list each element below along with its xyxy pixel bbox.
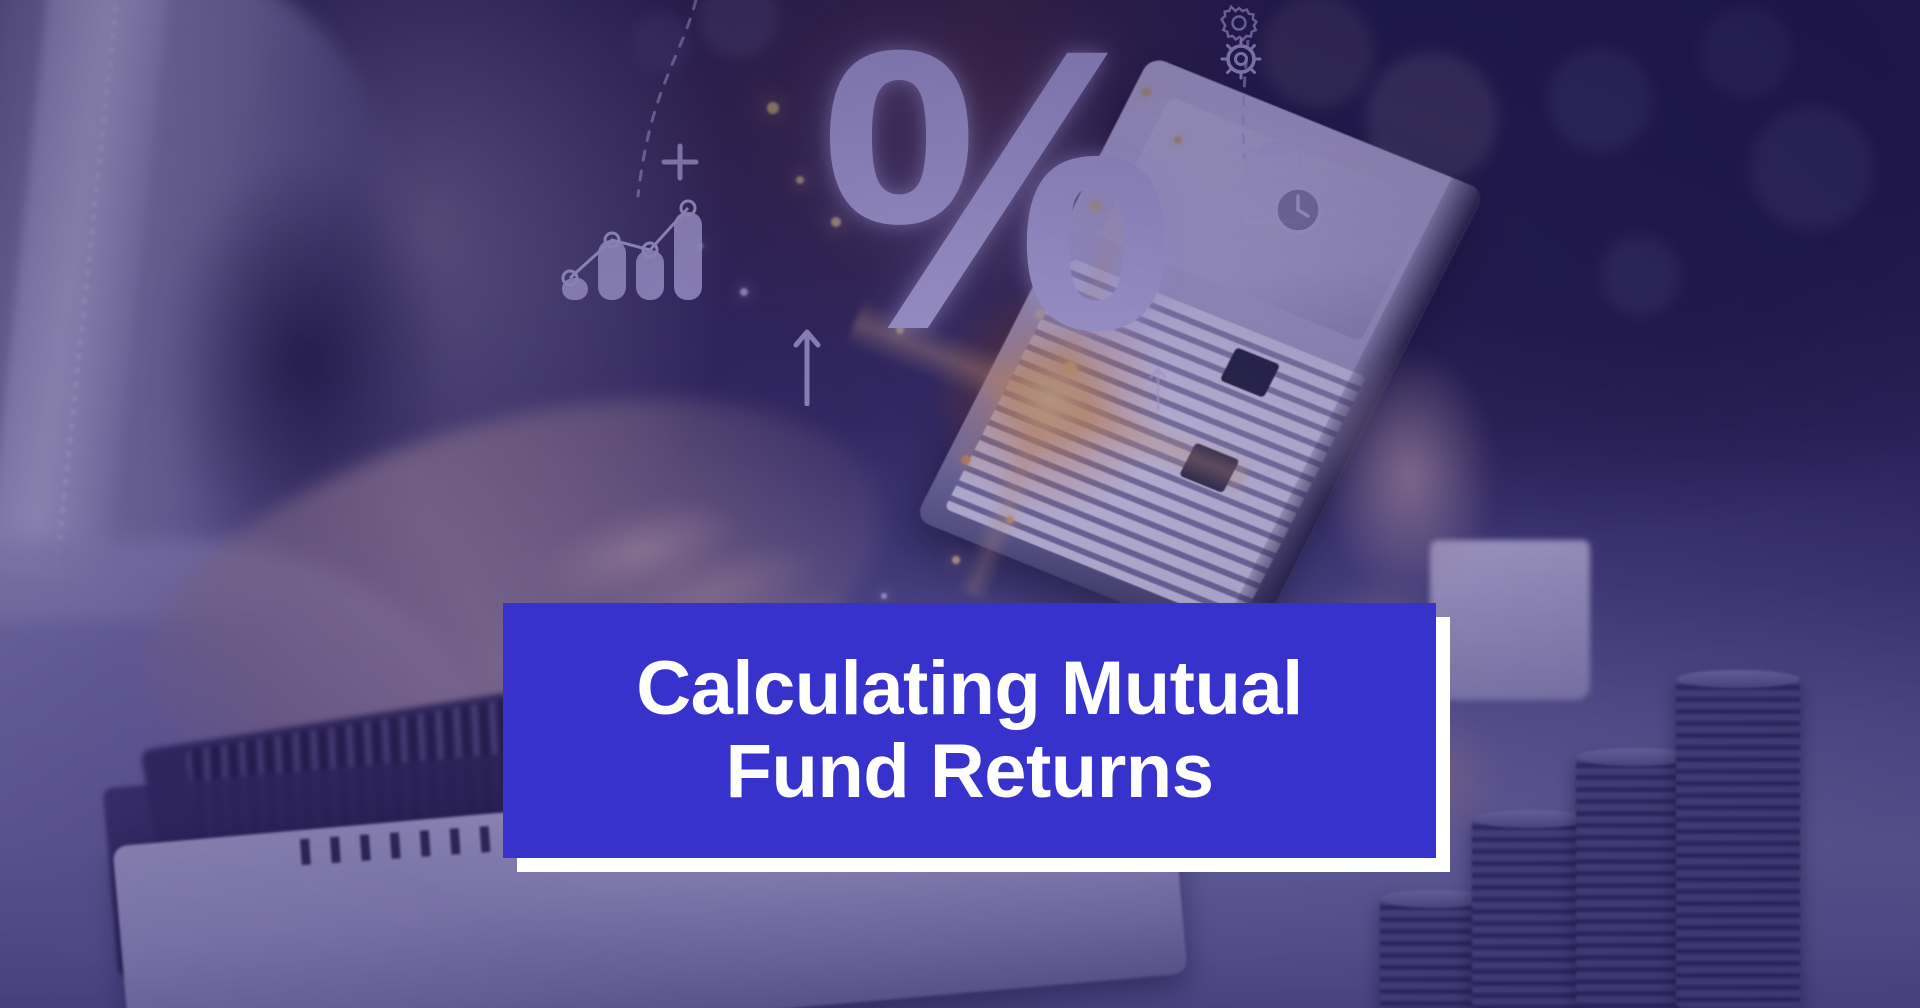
title-line-2: Fund Returns	[726, 731, 1214, 813]
title-card: Calculating Mutual Fund Returns	[503, 603, 1436, 858]
title-line-1: Calculating Mutual	[636, 648, 1303, 730]
title-blue-box: Calculating Mutual Fund Returns	[503, 603, 1436, 858]
hero-banner: %	[0, 0, 1920, 1008]
